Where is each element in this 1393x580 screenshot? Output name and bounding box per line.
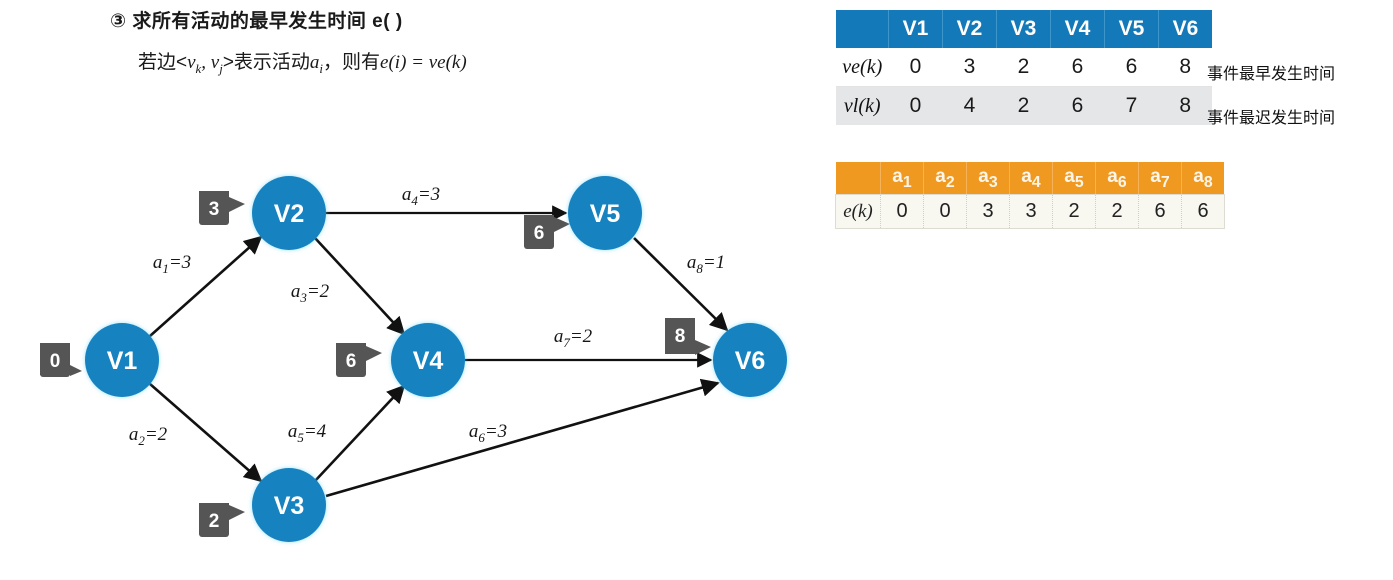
- cell-ve-v6: 8: [1159, 48, 1213, 87]
- heading-block: ③ 求所有活动的最早发生时间 e( ) 若边<vk, vj>表示活动ai，则有e…: [110, 6, 730, 77]
- badge-v5: 6: [524, 215, 570, 249]
- event-time-table: V1 V2 V3 V4 V5 V6 ve(k) 0 3 2 6 6 8 vl(k…: [836, 10, 1212, 125]
- edge-a1: [150, 237, 261, 336]
- badge-v6-value: 8: [675, 326, 686, 347]
- table-row-ve: ve(k) 0 3 2 6 6 8: [836, 48, 1212, 87]
- cell-ve-v4: 6: [1051, 48, 1105, 87]
- col-header-v6: V6: [1159, 10, 1213, 48]
- edge-label-a7: a7=2: [554, 326, 593, 350]
- edge-label-a5-name: a: [288, 421, 298, 442]
- cell-e-a3: 3: [967, 195, 1010, 228]
- col-header-v5: V5: [1105, 10, 1159, 48]
- var-ai: ai: [310, 52, 323, 73]
- edge-label-a4-weight: =3: [418, 184, 440, 205]
- heading-line-1: ③ 求所有活动的最早发生时间 e( ): [110, 6, 730, 33]
- activity-earliest-time-table: a1 a2 a3 a4 a5 a6 a7 a8 e(k) 0 0 3 3 2 2…: [836, 162, 1224, 228]
- col-header-a3: a3: [967, 162, 1010, 195]
- edge-label-a2-weight: =2: [145, 424, 168, 445]
- edge-label-a2: a2=2: [129, 424, 168, 448]
- note-earliest-event-time: 事件最早发生时间: [1207, 60, 1335, 84]
- node-v3-label: V3: [274, 492, 305, 520]
- edge-label-a8-weight: =1: [703, 252, 725, 273]
- edge-label-a3-name: a: [291, 281, 301, 302]
- edge-label-a3-weight: =2: [307, 281, 330, 302]
- table-corner-cell: [836, 10, 889, 48]
- table-row-e: e(k) 0 0 3 3 2 2 6 6: [836, 195, 1224, 228]
- col-header-a6: a6: [1096, 162, 1139, 195]
- cell-ve-v1: 0: [889, 48, 943, 87]
- node-v3[interactable]: V3: [252, 468, 326, 542]
- node-v6-label: V6: [735, 347, 766, 375]
- table-header-row: V1 V2 V3 V4 V5 V6: [836, 10, 1212, 48]
- edge-label-a7-weight: =2: [570, 326, 593, 347]
- cell-vl-v4: 6: [1051, 87, 1105, 126]
- node-v4[interactable]: V4: [391, 323, 465, 397]
- heading-title: 求所有活动的最早发生时间 e( ): [132, 11, 402, 32]
- edge-label-a2-name: a: [129, 424, 139, 445]
- badge-v3: 2: [199, 503, 245, 537]
- node-v1-label: V1: [107, 347, 138, 375]
- badge-v2-value: 3: [209, 199, 220, 220]
- note-latest-event-time: 事件最迟发生时间: [1207, 104, 1335, 128]
- cell-vl-v6: 8: [1159, 87, 1213, 126]
- cell-e-a4: 3: [1010, 195, 1053, 228]
- heading-line2-mid: >表示活动: [223, 52, 310, 73]
- cell-e-a2: 0: [924, 195, 967, 228]
- heading-line2-prefix: 若边<: [138, 52, 187, 73]
- badge-v3-value: 2: [209, 511, 220, 532]
- edge-label-a8: a8=1: [687, 252, 725, 276]
- table-row-vl: vl(k) 0 4 2 6 7 8: [836, 87, 1212, 126]
- cell-vl-v3: 2: [997, 87, 1051, 126]
- edge-label-a6-weight: =3: [485, 421, 507, 442]
- edge-label-a7-name: a: [554, 326, 564, 347]
- node-v5-label: V5: [590, 200, 621, 228]
- cell-ve-v2: 3: [943, 48, 997, 87]
- badge-v2: 3: [199, 191, 245, 225]
- col-header-v1: V1: [889, 10, 943, 48]
- edge-label-a5: a5=4: [288, 421, 327, 445]
- col-header-a1: a1: [881, 162, 924, 195]
- edge-label-a1-name: a: [153, 252, 163, 273]
- node-v4-label: V4: [413, 347, 444, 375]
- badge-v1: 0: [40, 343, 82, 377]
- edge-label-a6: a6=3: [469, 421, 507, 445]
- node-v2[interactable]: V2: [252, 176, 326, 250]
- col-header-a4: a4: [1010, 162, 1053, 195]
- table-corner-cell-activities: [836, 162, 881, 195]
- node-v2-label: V2: [274, 200, 305, 228]
- node-v1[interactable]: V1: [85, 323, 159, 397]
- cell-e-a5: 2: [1053, 195, 1096, 228]
- edge-label-a8-name: a: [687, 252, 697, 273]
- cell-e-a8: 6: [1182, 195, 1225, 228]
- var-vj: vj: [211, 52, 223, 73]
- badge-v6: 8: [665, 318, 711, 355]
- node-v6[interactable]: V6: [713, 323, 787, 397]
- col-header-v4: V4: [1051, 10, 1105, 48]
- badge-v5-value: 6: [534, 223, 545, 244]
- row-label-e: e(k): [836, 195, 881, 228]
- col-header-v2: V2: [943, 10, 997, 48]
- edge-a6: [326, 383, 718, 496]
- heading-line-2: 若边<vk, vj>表示活动ai，则有e(i) = ve(k): [138, 47, 730, 77]
- row-label-ve: ve(k): [836, 48, 889, 87]
- heading-line2-then: ，则有: [323, 52, 380, 73]
- cell-vl-v5: 7: [1105, 87, 1159, 126]
- cell-vl-v2: 4: [943, 87, 997, 126]
- col-header-a5: a5: [1053, 162, 1096, 195]
- cell-ve-v5: 6: [1105, 48, 1159, 87]
- cell-ve-v3: 2: [997, 48, 1051, 87]
- cell-e-a7: 6: [1139, 195, 1182, 228]
- row-label-vl: vl(k): [836, 87, 889, 126]
- heading-marker: ③: [110, 11, 127, 32]
- col-header-a7: a7: [1139, 162, 1182, 195]
- edge-label-a4: a4=3: [402, 184, 440, 208]
- formula-e: e(i) = ve(k): [380, 52, 467, 73]
- badge-v1-value: 0: [50, 351, 61, 372]
- edge-label-a1-weight: =3: [169, 252, 191, 273]
- table-header-row-activities: a1 a2 a3 a4 a5 a6 a7 a8: [836, 162, 1224, 195]
- cell-vl-v1: 0: [889, 87, 943, 126]
- var-vk: vk: [187, 52, 201, 73]
- col-header-v3: V3: [997, 10, 1051, 48]
- edge-a5: [315, 386, 404, 481]
- badge-v4-value: 6: [346, 351, 357, 372]
- edge-label-a3: a3=2: [291, 281, 330, 305]
- edge-label-a6-name: a: [469, 421, 479, 442]
- aoe-network-diagram: a1=3 a2=2 a3=2 a4=3 a5=4 a6=3 a7=2 a8=1 …: [0, 140, 830, 580]
- heading-comma: ,: [201, 52, 211, 73]
- node-v5[interactable]: V5: [568, 176, 642, 250]
- edge-label-a4-name: a: [402, 184, 412, 205]
- col-header-a2: a2: [924, 162, 967, 195]
- col-header-a8: a8: [1182, 162, 1225, 195]
- edge-label-a1: a1=3: [153, 252, 191, 276]
- cell-e-a1: 0: [881, 195, 924, 228]
- badge-v4: 6: [336, 343, 382, 377]
- edge-label-a5-weight: =4: [304, 421, 327, 442]
- cell-e-a6: 2: [1096, 195, 1139, 228]
